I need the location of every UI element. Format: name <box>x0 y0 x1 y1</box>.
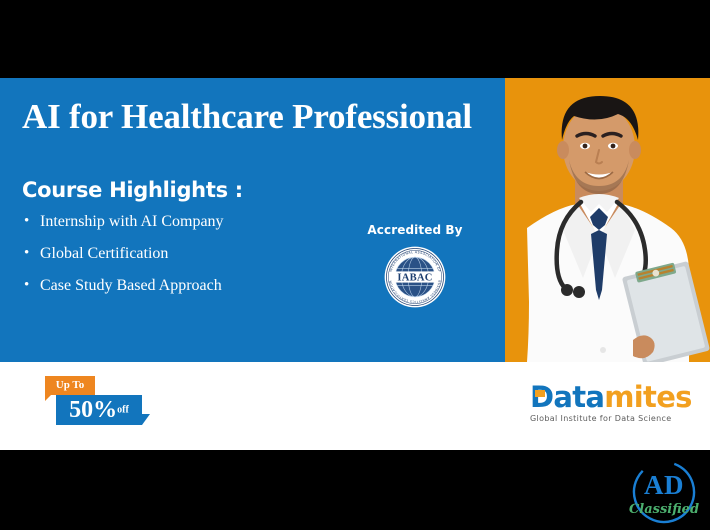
svg-text:IABAC: IABAC <box>397 272 432 283</box>
up-to-label: Up To <box>45 376 95 395</box>
datamites-wordmark: Datamites <box>530 382 685 412</box>
discount-badge: Up To 50%off <box>45 376 150 428</box>
accredited-by-label: Accredited By <box>360 223 470 237</box>
datamites-logo: Datamites Global Institute for Data Scie… <box>530 382 685 423</box>
iabac-seal-icon: IABAC INTERNATIONAL ASSOCIATION OF BUSIN… <box>384 246 446 308</box>
datamites-ata: ata <box>553 380 604 414</box>
svg-text:AD: AD <box>644 470 684 500</box>
list-item: Case Study Based Approach <box>22 276 224 296</box>
page-title: AI for Healthcare Professional <box>22 96 492 138</box>
svg-text:Classified: Classified <box>629 502 699 517</box>
ad-classified-logo-icon: AD Classified <box>628 458 700 526</box>
accreditation-block: Accredited By IABAC INTERNATIONAL ASSOCI… <box>360 223 470 308</box>
ad-classified-watermark: AD Classified <box>628 458 700 526</box>
datamites-tagline: Global Institute for Data Science <box>530 414 685 423</box>
bottom-black-bar <box>0 450 710 530</box>
list-item: Global Certification <box>22 244 224 264</box>
doctor-illustration <box>505 78 710 362</box>
doctor-hero-image <box>505 78 710 362</box>
discount-percent: 50% <box>69 397 117 423</box>
discount-off-label: off <box>117 405 129 416</box>
course-highlights-list: Internship with AI Company Global Certif… <box>22 212 224 308</box>
promo-poster: AI for Healthcare Professional Course Hi… <box>0 0 710 530</box>
ribbon-bottom-tail <box>142 414 150 425</box>
list-item: Internship with AI Company <box>22 212 224 232</box>
course-highlights-heading: Course Highlights : <box>22 178 243 202</box>
datamites-d-glyph: D <box>530 382 553 412</box>
discount-value: 50%off <box>56 395 142 425</box>
datamites-mites: mites <box>604 380 691 414</box>
top-black-bar <box>0 0 710 78</box>
